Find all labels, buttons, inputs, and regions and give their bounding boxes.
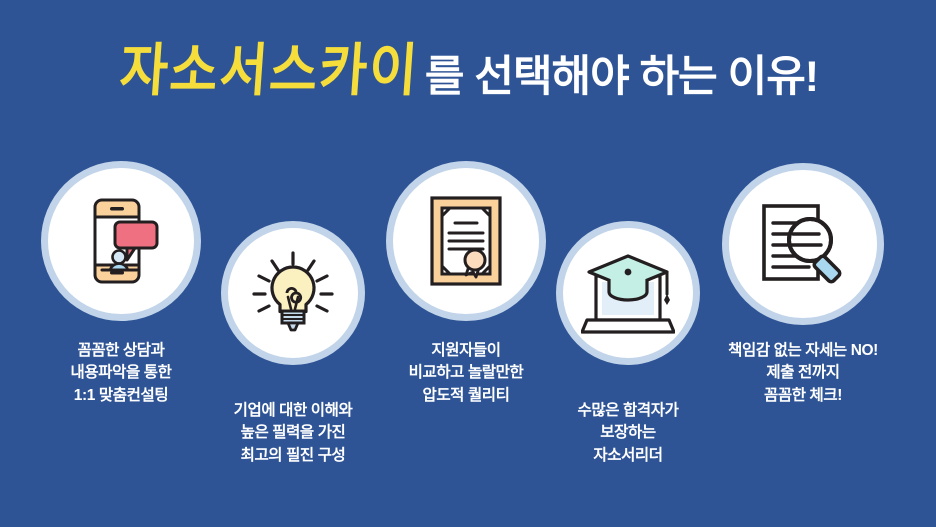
lightbulb-icon [250, 250, 336, 336]
document-magnifier-icon [757, 200, 849, 288]
feature-circle-3[interactable] [393, 168, 539, 314]
caption-line: 제출 전까지 [703, 362, 903, 384]
feature-caption-5: 책임감 없는 자세는 NO! 제출 전까지 꼼꼼한 체크! [703, 340, 903, 407]
smartphone-chat-icon [82, 197, 160, 285]
feature-circle-1[interactable] [48, 168, 194, 314]
caption-line: 비교하고 놀랄만한 [368, 362, 564, 384]
laptop-graduation-cap-icon [581, 250, 675, 336]
feature-caption-2: 기업에 대한 이해와 높은 필력을 가진 최고의 필진 구성 [195, 400, 391, 467]
title-rest-text: 를 선택해야 하는 이유! [425, 56, 818, 99]
caption-line: 꼼꼼한 상담과 [23, 340, 219, 362]
poster-canvas: 자소서스카이를 선택해야 하는 이유! [0, 0, 936, 527]
feature-circle-5[interactable] [729, 170, 877, 318]
feature-caption-3: 지원자들이 비교하고 놀랄만한 압도적 퀄리티 [368, 340, 564, 407]
feature-caption-4: 수많은 합격자가 보장하는 자소서리더 [530, 400, 726, 467]
caption-line: 꼼꼼한 체크! [703, 385, 903, 407]
caption-line: 책임감 없는 자세는 NO! [703, 340, 903, 362]
caption-line: 보장하는 [530, 422, 726, 444]
feature-circle-2[interactable] [228, 228, 358, 358]
caption-line: 지원자들이 [368, 340, 564, 362]
caption-line: 기업에 대한 이해와 [195, 400, 391, 422]
page-title: 자소서스카이를 선택해야 하는 이유! [0, 48, 936, 100]
caption-line: 1:1 맞춤컨설팅 [23, 385, 219, 407]
certificate-icon [428, 195, 504, 287]
caption-line: 높은 필력을 가진 [195, 422, 391, 444]
title-brand-text: 자소서스카이 [118, 43, 421, 100]
feature-circle-4[interactable] [563, 228, 693, 358]
feature-caption-1: 꼼꼼한 상담과 내용파악을 통한 1:1 맞춤컨설팅 [23, 340, 219, 407]
caption-line: 내용파악을 통한 [23, 362, 219, 384]
caption-line: 수많은 합격자가 [530, 400, 726, 422]
caption-line: 최고의 필진 구성 [195, 445, 391, 467]
caption-line: 자소서리더 [530, 445, 726, 467]
